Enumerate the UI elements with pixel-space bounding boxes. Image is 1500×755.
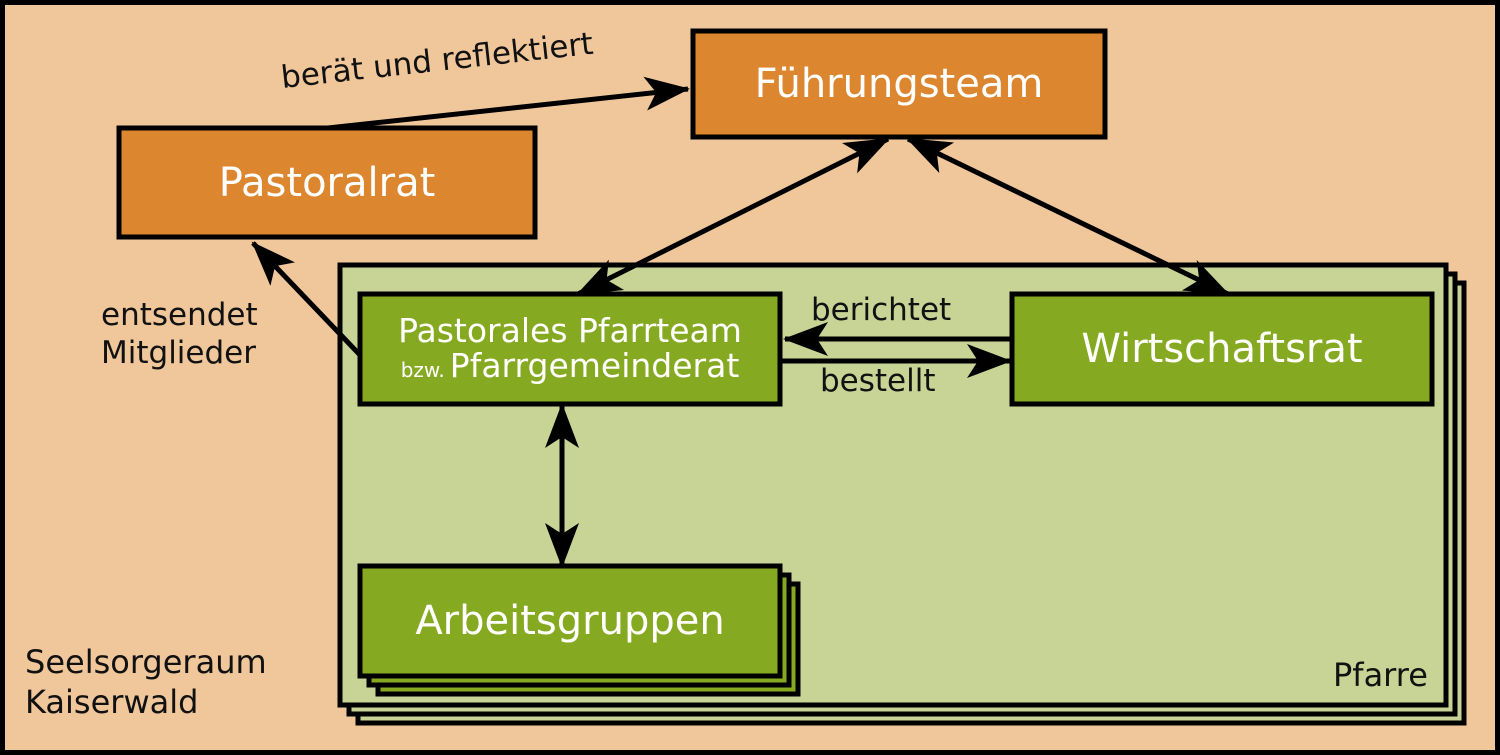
seelsorgeraum-label-line2: Kaiserwald — [25, 683, 198, 723]
node-pfarrteam-label: Pastorales Pfarrteam bzw. Pfarrgemeinder… — [360, 294, 780, 404]
node-pfarrteam-label-line2-text: Pfarrgemeinderat — [450, 349, 739, 384]
edge-beraet-und-reflektiert — [300, 89, 688, 131]
node-pfarrteam-label-line2: bzw. Pfarrgemeinderat — [401, 349, 740, 384]
diagram-canvas: Führungsteam Pastoralrat Pastorales Pfar… — [0, 0, 1500, 755]
node-pfarrteam-bzw: bzw. — [401, 360, 445, 381]
edge-entsendet-line1: entsendet — [101, 297, 258, 335]
edge-berichtet-label: berichtet — [811, 294, 951, 327]
edge-entsendet-mitglieder-label: entsendet Mitglieder — [101, 297, 258, 373]
seelsorgeraum-label-line1: Seelsorgeraum — [25, 643, 267, 683]
edge-entsendet-line2: Mitglieder — [101, 335, 256, 373]
seelsorgeraum-region-label: Seelsorgeraum Kaiserwald — [25, 643, 267, 722]
node-pastoralrat-label: Pastoralrat — [119, 128, 535, 237]
pfarre-region-label: Pfarre — [1333, 659, 1428, 693]
node-pfarrteam-label-line1: Pastorales Pfarrteam — [398, 314, 742, 349]
node-wirtschaftsrat-label: Wirtschaftsrat — [1012, 294, 1432, 404]
node-arbeitsgruppen-label: Arbeitsgruppen — [360, 566, 780, 676]
edge-bestellt-label: bestellt — [820, 365, 936, 398]
node-fuehrungsteam-label: Führungsteam — [693, 31, 1105, 137]
